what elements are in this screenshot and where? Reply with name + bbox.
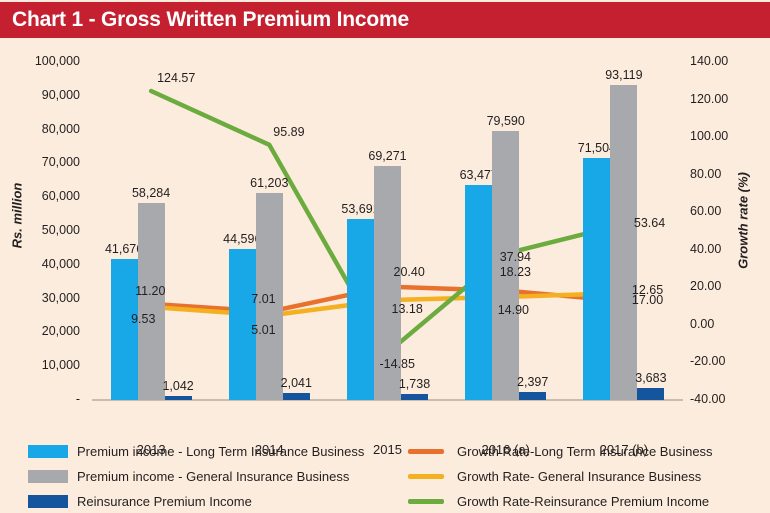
bar-long-term xyxy=(347,219,374,400)
y-axis-right-tick: 120.00 xyxy=(690,93,754,105)
y-axis-left-tick: 80,000 xyxy=(8,123,80,135)
line-value-label: 14.90 xyxy=(498,303,529,317)
bar-long-term xyxy=(583,158,610,400)
y-axis-left-tick: 100,000 xyxy=(8,55,80,67)
line-value-label: 95.89 xyxy=(273,125,304,139)
bar-value-label: 2,041 xyxy=(266,376,326,390)
legend-label: Reinsurance Premium Income xyxy=(77,494,252,509)
y-axis-right-tick: 60.00 xyxy=(690,205,754,217)
bar-value-label: 1,042 xyxy=(148,379,208,393)
bar-long-term xyxy=(465,185,492,400)
y-axis-left-tick: 60,000 xyxy=(8,190,80,202)
legend-label: Growth Rate- General Insurance Business xyxy=(457,469,701,484)
chart-legend: Premium income - Long Term Insurance Bus… xyxy=(0,440,770,513)
bar-reinsurance xyxy=(637,388,664,400)
legend-item[interactable]: Growth Rate- General Insurance Business xyxy=(408,469,701,484)
bar-value-label: 69,271 xyxy=(358,149,418,163)
legend-label: Premium income - General Insurance Busin… xyxy=(77,469,349,484)
y-axis-right-tick: 140.00 xyxy=(690,55,754,67)
line-value-label: 53.64 xyxy=(634,216,665,230)
legend-swatch-line-icon xyxy=(408,474,444,479)
legend-label: Premium income - Long Term Insurance Bus… xyxy=(77,444,364,459)
plot-area: 41,67644,59653,69163,47771,50458,28461,2… xyxy=(92,62,683,400)
legend-swatch-bar-icon xyxy=(28,495,68,508)
bar-value-label: 1,738 xyxy=(385,377,445,391)
line-value-label: 9.53 xyxy=(131,312,155,326)
y-axis-left-tick: 40,000 xyxy=(8,258,80,270)
bar-reinsurance xyxy=(401,394,428,400)
line-value-label: 5.01 xyxy=(251,323,275,337)
line-value-label: 18.23 xyxy=(500,265,531,279)
bar-value-label: 79,590 xyxy=(476,114,536,128)
legend-item[interactable]: Growth Rate-Reinsurance Premium Income xyxy=(408,494,709,509)
y-axis-left-tick: 10,000 xyxy=(8,359,80,371)
line-value-label: 11.20 xyxy=(135,284,165,298)
bar-general xyxy=(138,203,165,400)
y-axis-right-tick: 20.00 xyxy=(690,280,754,292)
chart-title-banner: Chart 1 - Gross Written Premium Income xyxy=(0,2,770,38)
bar-value-label: 58,284 xyxy=(121,186,181,200)
legend-label: Growth Rate-Long Term Insurance Business xyxy=(457,444,713,459)
y-axis-right-tick: 40.00 xyxy=(690,243,754,255)
bar-general xyxy=(610,85,637,400)
legend-swatch-bar-icon xyxy=(28,470,68,483)
y-axis-left-tick: 90,000 xyxy=(8,89,80,101)
bar-value-label: 2,397 xyxy=(503,375,563,389)
bar-value-label: 3,683 xyxy=(621,371,681,385)
y-axis-right-tick: 80.00 xyxy=(690,168,754,180)
legend-item[interactable]: Premium income - General Insurance Busin… xyxy=(28,469,349,484)
legend-item[interactable]: Growth Rate-Long Term Insurance Business xyxy=(408,444,713,459)
bar-reinsurance xyxy=(165,396,192,400)
y-axis-left-tick: 20,000 xyxy=(8,325,80,337)
y-axis-left-tick: 30,000 xyxy=(8,292,80,304)
y-axis-left-title: Rs. million xyxy=(10,161,25,271)
page-title: Chart 1 - Gross Written Premium Income xyxy=(0,8,409,32)
line-value-label: 7.01 xyxy=(251,292,275,306)
bar-value-label: 93,119 xyxy=(594,68,654,82)
y-axis-right-tick: 0.00 xyxy=(690,318,754,330)
y-axis-left-tick: 70,000 xyxy=(8,156,80,168)
bar-value-label: 61,203 xyxy=(239,176,299,190)
legend-swatch-line-icon xyxy=(408,449,444,454)
bar-reinsurance xyxy=(519,392,546,400)
y-axis-left-tick: 50,000 xyxy=(8,224,80,236)
bar-long-term xyxy=(111,259,138,400)
y-axis-right-tick: -20.00 xyxy=(690,355,754,367)
legend-item[interactable]: Premium income - Long Term Insurance Bus… xyxy=(28,444,364,459)
chart-canvas: Rs. million Growth rate (%) 41,67644,596… xyxy=(0,38,770,438)
line-value-label: 124.57 xyxy=(157,71,195,85)
bar-reinsurance xyxy=(283,393,310,400)
y-axis-right-tick: 100.00 xyxy=(690,130,754,142)
legend-swatch-bar-icon xyxy=(28,445,68,458)
legend-swatch-line-icon xyxy=(408,499,444,504)
line-value-label: -14.85 xyxy=(380,357,415,371)
line-value-label: 13.18 xyxy=(392,302,423,316)
line-value-label: 37.94 xyxy=(500,250,531,264)
line-value-label: 20.40 xyxy=(394,265,425,279)
legend-label: Growth Rate-Reinsurance Premium Income xyxy=(457,494,709,509)
line-value-label: 17.00 xyxy=(632,293,663,307)
y-axis-right-tick: -40.00 xyxy=(690,393,754,405)
legend-item[interactable]: Reinsurance Premium Income xyxy=(28,494,252,509)
y-axis-left-tick: - xyxy=(8,393,80,405)
